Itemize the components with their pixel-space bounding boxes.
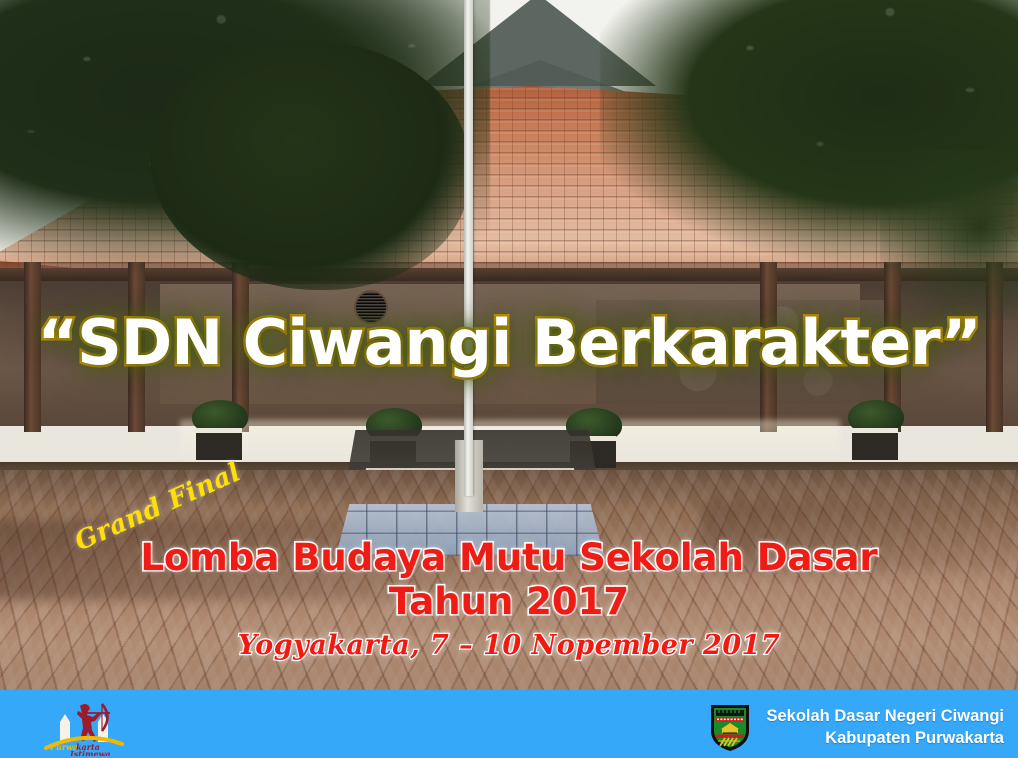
poster-slide: “SDN Ciwangi Berkarakter” Grand Final Lo… xyxy=(0,0,1018,758)
footer-identity: Sekolah Dasar Negeri Ciwangi Kabupaten P… xyxy=(708,697,1004,757)
purwakarta-regency-emblem-icon xyxy=(708,701,752,753)
archer-logo-icon: Purwa karta Istimewa xyxy=(42,698,126,756)
school-name-line-2: Kabupaten Purwakarta xyxy=(766,727,1004,749)
tree-foliage-right-low xyxy=(880,150,1018,320)
event-place-date: Yogyakarta, 7 – 10 Nopember 2017 xyxy=(0,630,1018,661)
flagpole xyxy=(464,0,473,496)
purwakarta-istimewa-logo: Purwa karta Istimewa xyxy=(42,698,126,756)
planter-box xyxy=(852,428,898,460)
planter-box xyxy=(196,428,242,460)
main-title: “SDN Ciwangi Berkarakter” xyxy=(0,306,1018,379)
event-year: Tahun 2017 xyxy=(0,580,1018,623)
school-name-line-1: Sekolah Dasar Negeri Ciwangi xyxy=(766,705,1004,727)
logo-wordmark-bottom: Istimewa xyxy=(69,749,111,756)
event-name: Lomba Budaya Mutu Sekolah Dasar xyxy=(0,536,1018,579)
school-name-block: Sekolah Dasar Negeri Ciwangi Kabupaten P… xyxy=(766,705,1004,750)
